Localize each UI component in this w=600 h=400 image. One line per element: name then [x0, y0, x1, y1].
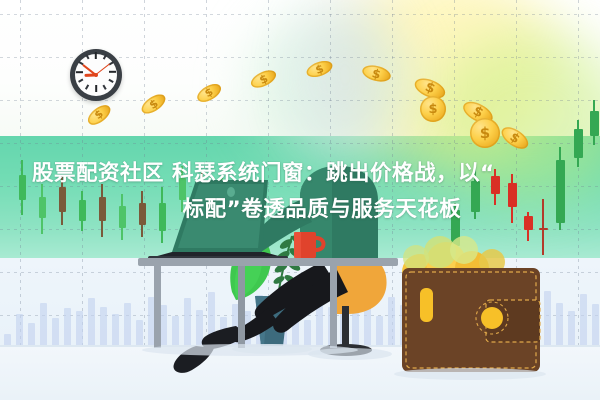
- floor-line: [0, 345, 600, 347]
- bar-chart-bar: [352, 313, 359, 346]
- bar-chart-bar: [64, 308, 71, 346]
- bar-chart-bar: [40, 303, 47, 347]
- coin-symbol: $: [480, 124, 490, 142]
- candle-body: [590, 111, 599, 136]
- wall-clock-icon: [70, 49, 122, 101]
- grid-line-horizontal: [0, 229, 600, 230]
- coin-symbol: $: [313, 61, 325, 77]
- bar-chart-bar: [436, 300, 443, 346]
- bar-chart-bar: [364, 303, 371, 347]
- bar-chart-bar: [292, 308, 299, 346]
- bar-chart-bar: [592, 304, 599, 346]
- bar-chart-bar: [460, 288, 467, 346]
- grid-line-horizontal: [0, 14, 600, 15]
- clock-tick: [95, 85, 97, 92]
- bar-chart-bar: [424, 310, 431, 346]
- headline-text: 股票配资社区 科瑟系统门窗：跳出价格战，以“ 标配”卷透品质与服务天花板: [14, 156, 586, 228]
- candlestick: [590, 100, 599, 145]
- gold-coin-face: $: [420, 96, 446, 122]
- bar-chart-bar: [232, 304, 239, 346]
- bar-chart-bar: [112, 314, 119, 346]
- bar-chart-bar: [184, 298, 191, 346]
- clock-tick: [109, 71, 116, 73]
- clock-center-pin: [94, 73, 98, 77]
- headline-line-2: 标配”卷透品质与服务天花板: [14, 192, 586, 228]
- bar-chart-bar: [196, 310, 203, 346]
- bar-chart-bar: [160, 305, 167, 346]
- bar-chart-bar: [244, 311, 251, 346]
- bar-chart-bar: [388, 297, 395, 346]
- bar-chart-bar: [532, 308, 539, 346]
- bar-chart-bar: [472, 303, 479, 347]
- clock-tick: [76, 71, 83, 73]
- bar-chart-bar: [400, 305, 407, 346]
- bar-chart-bar: [304, 320, 311, 346]
- bar-chart-bar: [544, 291, 551, 346]
- bar-chart-bar: [316, 298, 323, 346]
- bar-chart-bar: [556, 303, 563, 347]
- bar-chart-bar: [376, 316, 383, 346]
- coin-symbol: $: [507, 129, 523, 146]
- bar-chart-background: [0, 258, 600, 346]
- headline-line-1: 股票配资社区 科瑟系统门窗：跳出价格战，以“: [14, 156, 586, 192]
- bar-chart-bar: [508, 305, 515, 346]
- bar-chart-bar: [496, 295, 503, 346]
- bar-chart-bar: [76, 311, 83, 346]
- bar-chart-bar: [520, 298, 527, 346]
- bar-chart-bar: [220, 317, 227, 346]
- banner-image: $$$$$$$$$$$: [0, 0, 600, 400]
- coin-symbol: $: [423, 80, 437, 97]
- bar-chart-bar: [280, 301, 287, 346]
- bar-chart-bar: [100, 307, 107, 346]
- bar-chart-bar: [580, 294, 587, 346]
- bar-chart-bar: [88, 298, 95, 346]
- gold-coin-face: $: [470, 118, 500, 148]
- bar-chart-bar: [328, 307, 335, 346]
- coin-symbol: $: [428, 102, 437, 117]
- coin-symbol: $: [371, 66, 383, 82]
- bar-chart-bar: [124, 303, 131, 347]
- bar-chart-bar: [52, 318, 59, 346]
- candle-body: [574, 129, 583, 158]
- bar-chart-bar: [412, 294, 419, 346]
- bar-chart-bar: [256, 295, 263, 346]
- bar-chart-bar: [340, 289, 347, 346]
- bar-chart-bar: [484, 314, 491, 346]
- bar-chart-bar: [16, 314, 23, 346]
- bar-chart-bar: [208, 292, 215, 346]
- bar-chart-bar: [148, 297, 155, 346]
- bar-chart-bar: [28, 323, 35, 346]
- bar-chart-bar: [136, 320, 143, 346]
- bar-chart-bar: [568, 311, 575, 346]
- clock-tick: [95, 52, 97, 59]
- bar-chart-bar: [268, 314, 275, 346]
- bar-chart-bar: [172, 316, 179, 346]
- bar-chart-bar: [448, 307, 455, 346]
- background-band-floor: [0, 346, 600, 400]
